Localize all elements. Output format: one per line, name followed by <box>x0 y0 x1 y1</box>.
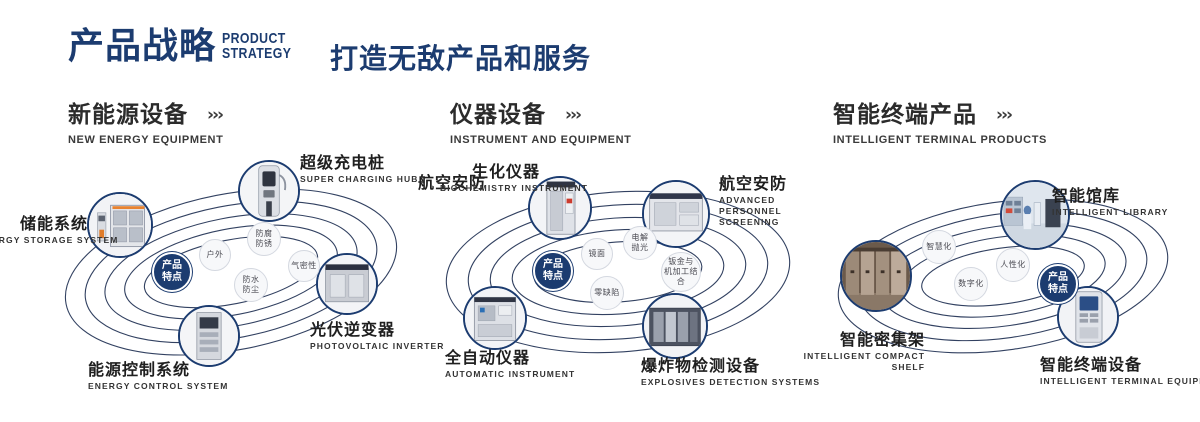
page-title-english-line1: PRODUCT <box>222 31 291 46</box>
node-label-cn: 智能馆库 <box>1052 186 1168 205</box>
feature-bubble-digital[interactable]: 数字化 <box>954 267 988 301</box>
node-label-en: INTELLIGENT LIBRARY <box>1052 207 1168 218</box>
section-title-en: INTELLIGENT TERMINAL PRODUCTS <box>833 134 1047 146</box>
feature-bubble-line2: 抛光 <box>632 243 649 253</box>
photo-photovoltaic-inverter <box>318 255 376 313</box>
section-title-cn: 新能源设备 ››› <box>68 95 223 129</box>
feature-bubble-line2: 机加工结合 <box>662 267 700 287</box>
feature-bubble-line1: 钣金与 <box>662 257 700 267</box>
chevron-triple-icon: ››› <box>207 105 222 125</box>
node-label-cn: 航空安防 <box>719 174 819 193</box>
section-title-en: INSTRUMENT AND EQUIPMENT <box>450 134 631 146</box>
page-slogan: 打造无敌产品和服务 <box>330 37 591 77</box>
node-photo-energy-control-system[interactable] <box>178 305 240 367</box>
node-photo-automatic-instrument[interactable] <box>463 286 527 350</box>
node-label-cn: 能源控制系统 <box>88 360 228 379</box>
node-label-energy-control-system: 能源控制系统 ENERGY CONTROL SYSTEM <box>88 360 228 392</box>
feature-bubble-line2: 防尘 <box>243 285 260 295</box>
node-label-en: AUTOMATIC INSTRUMENT <box>445 369 575 380</box>
node-label-explosives-detection-systems: 爆炸物检测设备 EXPLOSIVES DETECTION SYSTEMS <box>641 356 820 388</box>
feature-bubble-airtightness[interactable]: 气密性 <box>288 250 320 282</box>
feature-bubble-outdoor[interactable]: 户外 <box>199 239 231 271</box>
feature-bubble-line1: 电解 <box>632 233 649 243</box>
feature-bubble-line1: 气密性 <box>291 261 317 271</box>
feature-bubble-line2: 特点 <box>162 272 182 284</box>
feature-bubble-line1: 零缺陷 <box>594 288 620 298</box>
feature-bubble-waterproof[interactable]: 防水 防尘 <box>234 268 268 302</box>
node-label-en: ENERGY STORAGE SYSTEM <box>0 235 88 246</box>
feature-bubble-line2: 防锈 <box>256 239 273 249</box>
node-label-intelligent-compact-shelf: 智能密集架 INTELLIGENT COMPACT SHELF <box>800 330 925 373</box>
node-label-cn: 智能终端设备 <box>1040 355 1200 374</box>
node-photo-super-charging-hub[interactable] <box>238 160 300 222</box>
section-title-new-energy: 新能源设备 ››› NEW ENERGY EQUIPMENT <box>68 95 223 146</box>
node-label-en: EXPLOSIVES DETECTION SYSTEMS <box>641 377 820 388</box>
feature-bubble-line1: 防水 <box>243 275 260 285</box>
node-label-cn: 爆炸物检测设备 <box>641 356 820 375</box>
node-label-cn: 全自动仪器 <box>445 348 575 367</box>
feature-bubble-line1: 产品 <box>162 260 182 272</box>
node-photo-energy-storage-system[interactable] <box>87 192 153 258</box>
photo-automatic-instrument <box>465 288 525 348</box>
feature-bubble-line1: 智慧化 <box>926 242 952 252</box>
feature-bubble-core[interactable]: 产品 特点 <box>1038 264 1078 304</box>
node-label-en: INTELLIGENT TERMINAL EQUIPMENT <box>1040 376 1200 387</box>
feature-bubble-line2: 特点 <box>1048 284 1068 296</box>
feature-bubble-zero-defect[interactable]: 零缺陷 <box>590 276 624 310</box>
node-label-intelligent-terminal-equipment: 智能终端设备 INTELLIGENT TERMINAL EQUIPMENT <box>1040 355 1200 387</box>
node-photo-photovoltaic-inverter[interactable] <box>316 253 378 315</box>
feature-bubble-anticorrosion[interactable]: 防腐 防锈 <box>247 222 281 256</box>
photo-energy-control-system <box>180 307 238 365</box>
feature-bubble-line1: 产品 <box>1048 272 1068 284</box>
feature-bubble-line1: 产品 <box>543 259 563 271</box>
page-title: 产品战略 <box>68 27 216 67</box>
chevron-triple-icon: ››› <box>565 105 580 125</box>
section-title-cn-text: 仪器设备 <box>450 102 546 128</box>
photo-intelligent-compact-shelf <box>842 242 910 310</box>
node-label-en: ADVANCED PERSONNEL SCREENING <box>719 195 819 228</box>
node-label-intelligent-library: 智能馆库 INTELLIGENT LIBRARY <box>1052 186 1168 218</box>
node-photo-explosives-detection-systems[interactable] <box>642 293 708 359</box>
node-label-biochemistry-instrument: 生化仪器 BIOCHEMISTRY INSTRUMENT <box>440 162 540 194</box>
node-label-en: ENERGY CONTROL SYSTEM <box>88 381 228 392</box>
section-title-en: NEW ENERGY EQUIPMENT <box>68 134 223 146</box>
feature-bubble-electropolishing[interactable]: 电解 抛光 <box>623 226 657 260</box>
node-label-en: INTELLIGENT COMPACT SHELF <box>800 351 925 373</box>
page-title-english: PRODUCT STRATEGY <box>222 31 291 61</box>
feature-bubble-line1: 人性化 <box>1000 260 1026 270</box>
section-title-intelligent-terminal: 智能终端产品 ››› INTELLIGENT TERMINAL PRODUCTS <box>833 95 1047 146</box>
feature-bubble-line1: 数字化 <box>958 279 984 289</box>
product-strategy-infographic: 产品战略 PRODUCT STRATEGY 打造无敌产品和服务 新能源设备 ››… <box>0 0 1200 422</box>
node-label-energy-storage-system: 储能系统 ENERGY STORAGE SYSTEM <box>0 214 88 246</box>
section-title-cn-text: 智能终端产品 <box>833 102 977 128</box>
feature-bubble-sheetmetal-machining[interactable]: 钣金与 机加工结合 <box>661 252 701 292</box>
feature-bubble-line2: 特点 <box>543 271 563 283</box>
chevron-triple-icon: ››› <box>996 105 1011 125</box>
photo-energy-storage-system <box>89 194 151 256</box>
section-title-cn-text: 新能源设备 <box>68 102 188 128</box>
node-label-advanced-personnel-screening: 航空安防 ADVANCED PERSONNEL SCREENING <box>719 174 819 228</box>
feature-bubble-core[interactable]: 产品 特点 <box>152 252 192 292</box>
feature-bubble-mirror[interactable]: 镜面 <box>581 238 613 270</box>
feature-bubble-humanized[interactable]: 人性化 <box>996 248 1030 282</box>
page-title-english-line2: STRATEGY <box>222 46 291 61</box>
feature-bubble-smart[interactable]: 智慧化 <box>922 230 956 264</box>
node-label-automatic-instrument: 全自动仪器 AUTOMATIC INSTRUMENT <box>445 348 575 380</box>
section-title-cn: 智能终端产品 ››› <box>833 95 1047 129</box>
photo-super-charging-hub <box>240 162 298 220</box>
node-label-en: BIOCHEMISTRY INSTRUMENT <box>440 183 540 194</box>
node-label-cn: 生化仪器 <box>440 162 540 181</box>
photo-explosives-detection-systems <box>644 295 706 357</box>
feature-bubble-line1: 户外 <box>207 250 224 260</box>
node-label-cn: 智能密集架 <box>800 330 925 349</box>
feature-bubble-core[interactable]: 产品 特点 <box>533 251 573 291</box>
feature-bubble-line1: 镜面 <box>589 249 606 259</box>
node-photo-intelligent-compact-shelf[interactable] <box>840 240 912 312</box>
node-label-cn: 储能系统 <box>0 214 88 233</box>
feature-bubble-line1: 防腐 <box>256 229 273 239</box>
node-label-cn: 超级充电桩 <box>300 153 419 172</box>
section-title-instrument: 仪器设备 ››› INSTRUMENT AND EQUIPMENT <box>450 95 631 146</box>
section-title-cn: 仪器设备 ››› <box>450 95 631 129</box>
